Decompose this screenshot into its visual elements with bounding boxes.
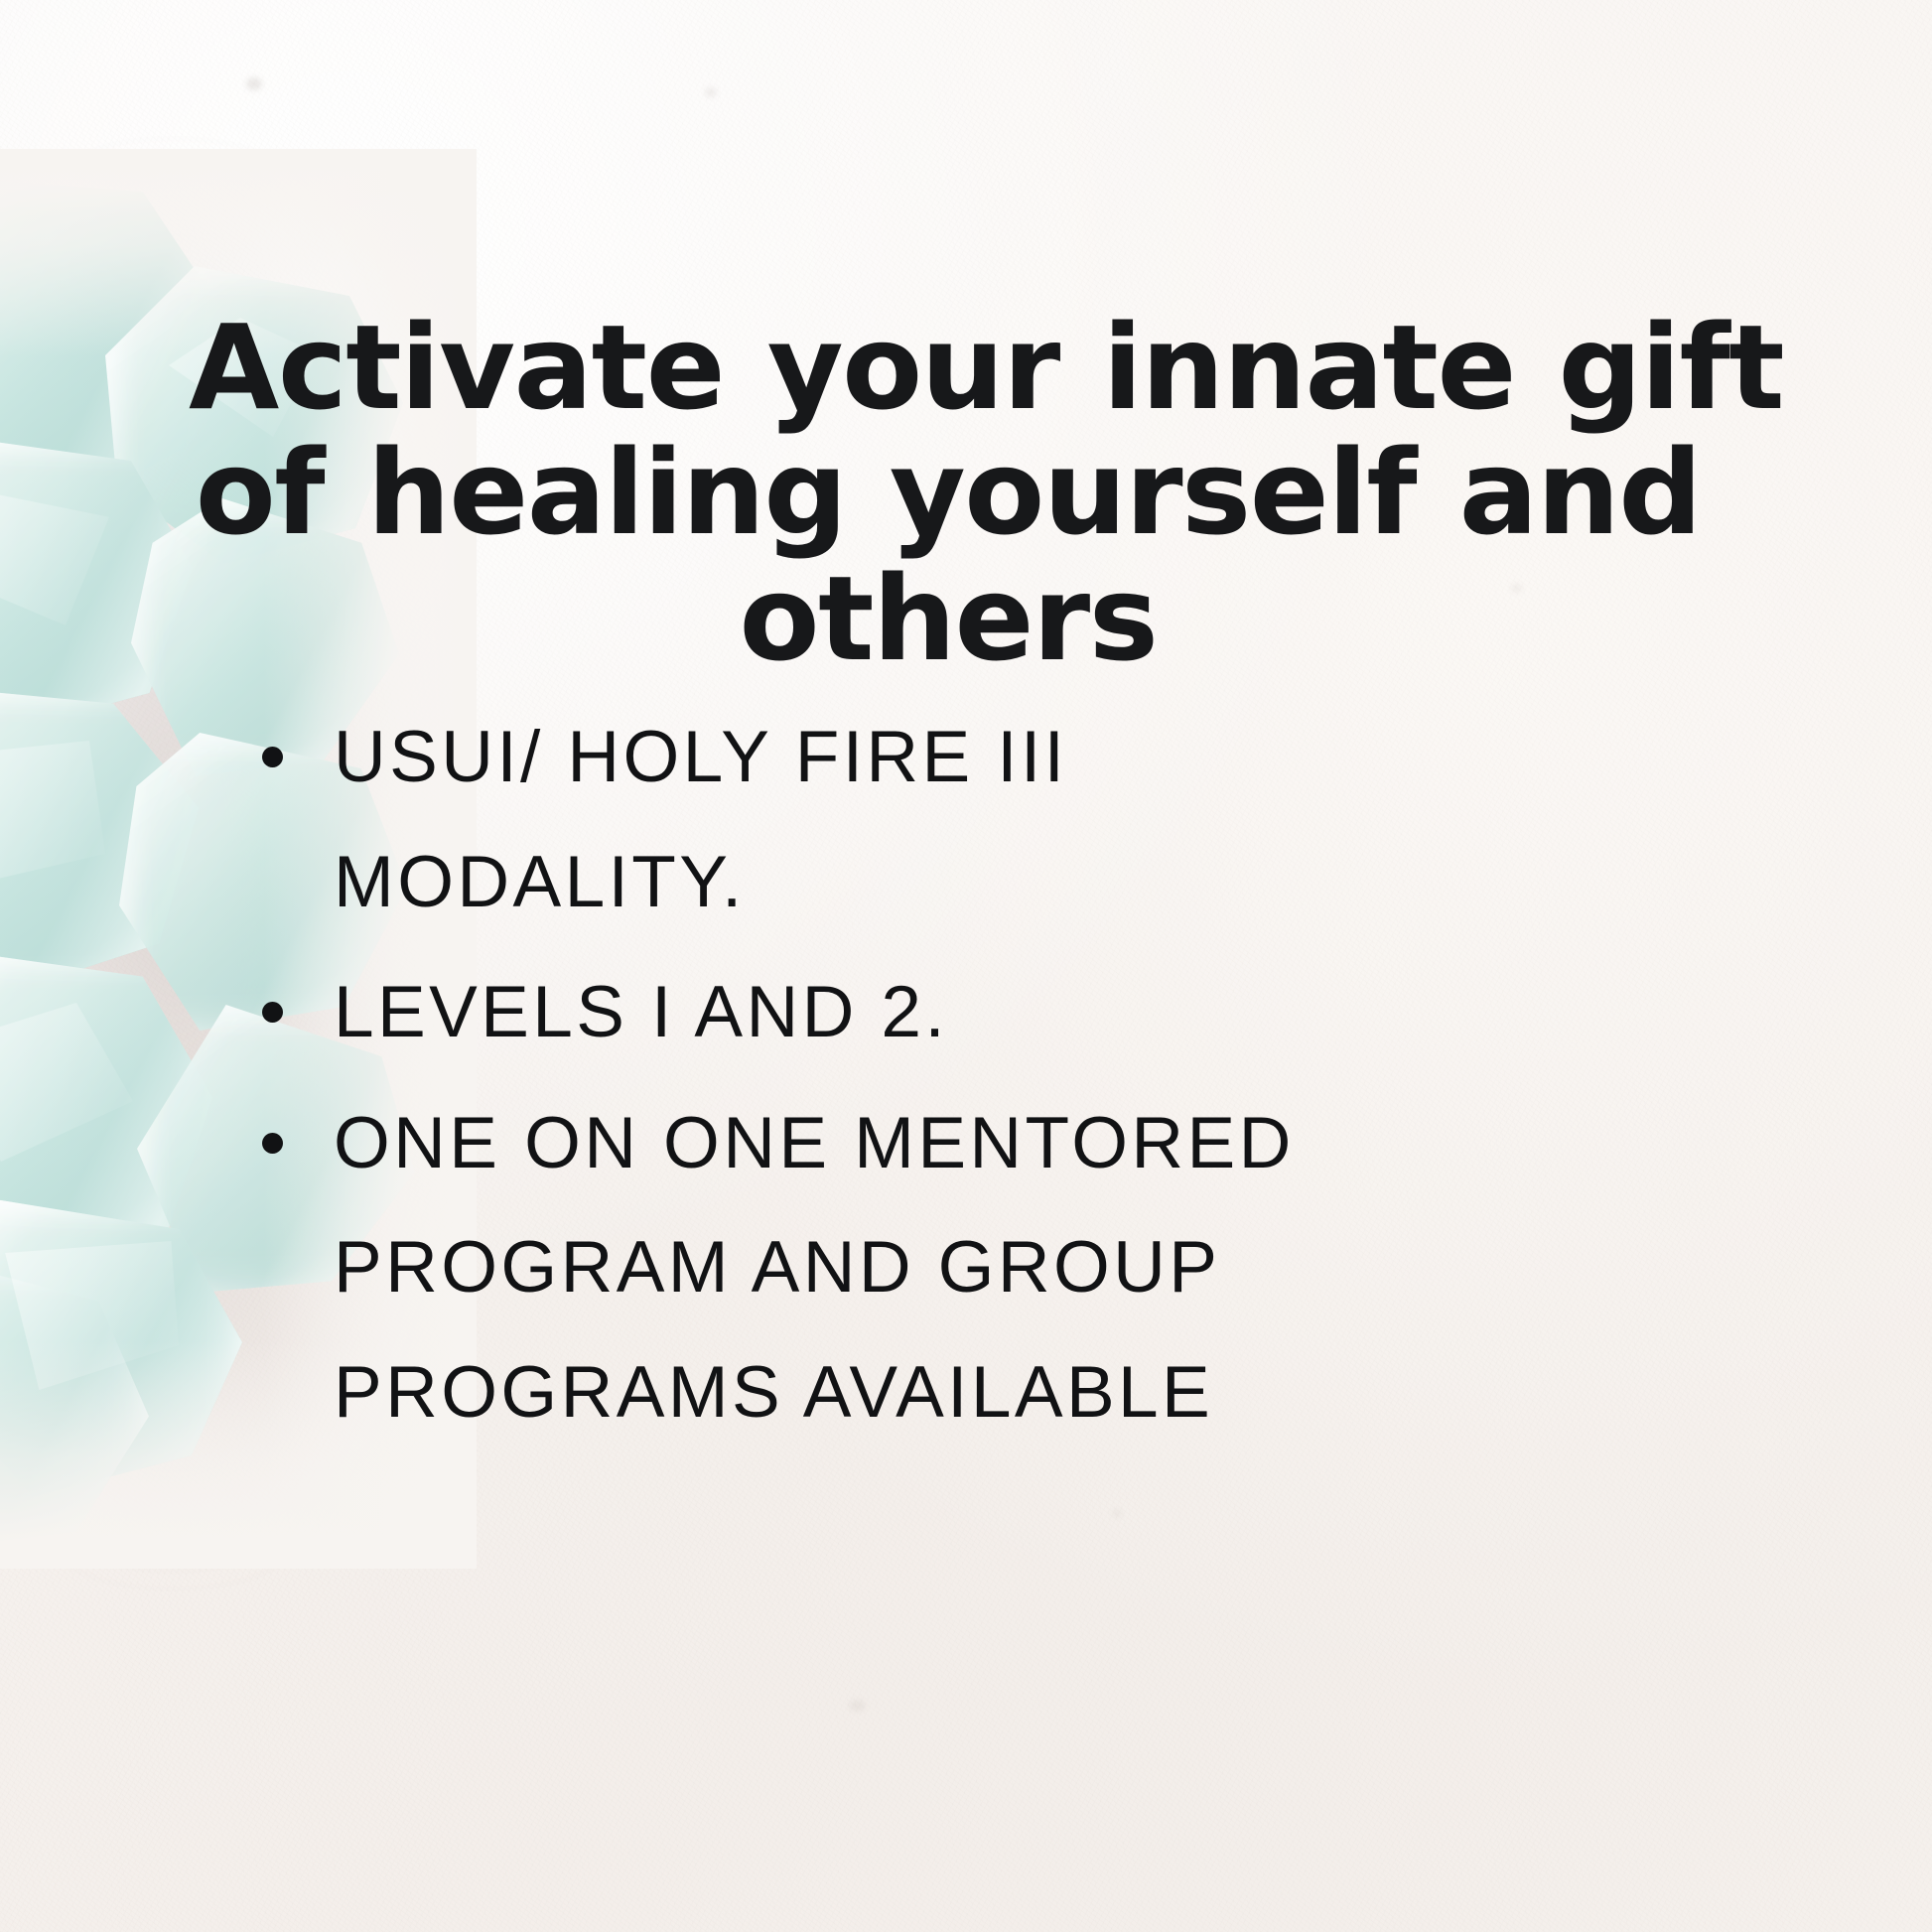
headline-line-3: others xyxy=(189,556,1708,681)
headline: Activate your innate gift of healing you… xyxy=(189,305,1708,681)
headline-line-1: Activate your innate gift xyxy=(189,305,1708,430)
headline-line-2: of healing yourself and xyxy=(189,430,1708,555)
text-content: Activate your innate gift of healing you… xyxy=(0,0,1932,1932)
list-item: USUI/ HOLY FIRE III MODALITY. xyxy=(256,695,1626,944)
list-item-line: ONE ON ONE MENTORED xyxy=(334,1081,1626,1206)
bullet-dot-icon xyxy=(262,1133,283,1154)
list-item: LEVELS I AND 2. xyxy=(256,950,1626,1075)
list-item-text: ONE ON ONE MENTORED PROGRAM AND GROUP PR… xyxy=(334,1081,1626,1455)
list-item-line: LEVELS I AND 2. xyxy=(334,950,1626,1075)
list-item-line: PROGRAMS AVAILABLE xyxy=(334,1330,1626,1455)
bullet-dot-icon xyxy=(262,1002,283,1023)
bullet-list: USUI/ HOLY FIRE III MODALITY. LEVELS I A… xyxy=(256,695,1626,1454)
list-item: ONE ON ONE MENTORED PROGRAM AND GROUP PR… xyxy=(256,1081,1626,1455)
list-item-line: USUI/ HOLY FIRE III xyxy=(334,695,1626,820)
list-item-text: LEVELS I AND 2. xyxy=(334,950,1626,1075)
list-item-line: PROGRAM AND GROUP xyxy=(334,1205,1626,1330)
poster-canvas: Activate your innate gift of healing you… xyxy=(0,0,1932,1932)
bullet-dot-icon xyxy=(262,747,283,767)
list-item-text: USUI/ HOLY FIRE III MODALITY. xyxy=(334,695,1626,944)
list-item-line: MODALITY. xyxy=(334,820,1626,945)
